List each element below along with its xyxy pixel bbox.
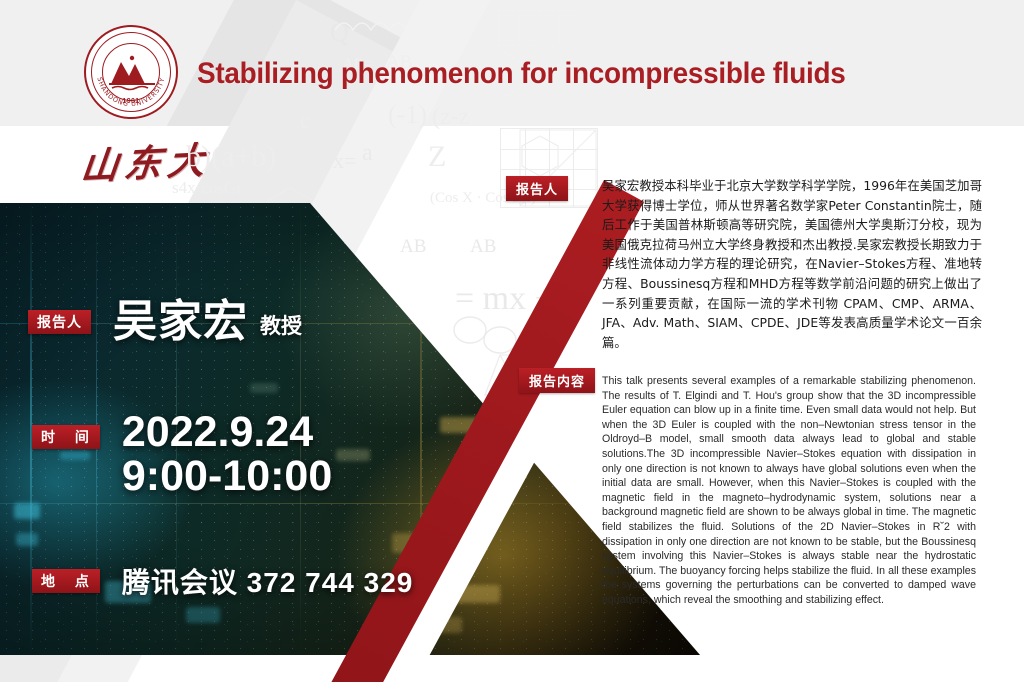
abstract-section-badge: 报告内容 <box>519 368 595 393</box>
shandong-university-logo: SHANDONG UNIVERSITY 1901 <box>84 25 178 119</box>
event-date: 2022.9.24 <box>122 411 332 455</box>
bio-section-badge: 报告人 <box>506 176 568 201</box>
speaker-tag: 报告人 <box>28 310 91 334</box>
venue-tag: 地 点 <box>32 569 100 593</box>
seminar-poster: Q b)(a+b) s4x·cosGr x= a AB= AB (-1) (z-… <box>0 0 1024 682</box>
time-value: 2022.9.24 9:00-10:00 <box>122 411 332 499</box>
content-column: 报告人 吴家宏教授本科毕业于北京大学数学科学学院，1996年在美国芝加哥大学获得… <box>602 0 982 682</box>
speaker-title: 教授 <box>260 310 302 344</box>
speaker-name: 吴家宏 <box>113 300 248 344</box>
venue-value: 腾讯会议 372 744 329 <box>122 561 414 601</box>
speaker-bio-text: 吴家宏教授本科毕业于北京大学数学科学学院，1996年在美国芝加哥大学获得博士学位… <box>602 176 982 352</box>
abstract-text: This talk presents several examples of a… <box>602 374 976 608</box>
event-info-panel: 报告人 吴家宏 教授 时 间 2022.9.24 9:00-10:00 地 点 … <box>0 203 640 655</box>
logo-year: 1901 <box>86 98 176 105</box>
event-time-range: 9:00-10:00 <box>122 455 332 499</box>
speaker-row: 报告人 吴家宏 教授 <box>28 300 302 344</box>
time-tag: 时 间 <box>32 425 100 449</box>
time-row: 时 间 2022.9.24 9:00-10:00 <box>32 411 332 499</box>
venue-row: 地 点 腾讯会议 372 744 329 <box>32 561 413 601</box>
